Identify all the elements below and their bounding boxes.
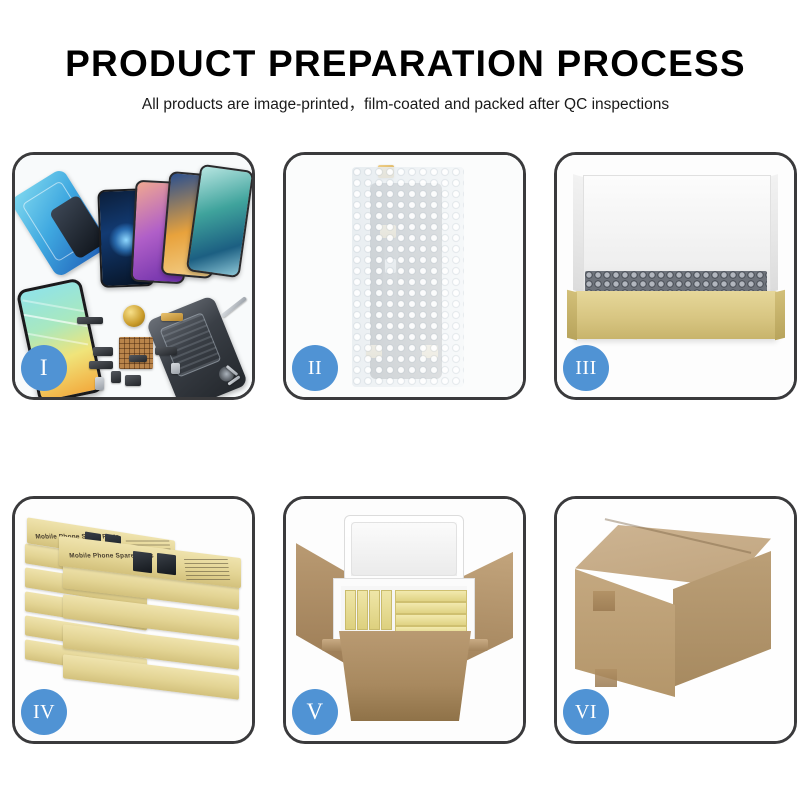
box-art-screen-b2 — [157, 553, 176, 575]
box-art-screen-b1 — [133, 551, 152, 573]
process-step-4[interactable]: Mobile Phone Spare Parts Mobile Phone Sp… — [12, 496, 255, 744]
yellow-box-v1 — [345, 590, 356, 630]
yellow-box-h1 — [395, 590, 467, 602]
yellow-box-v2 — [357, 590, 368, 630]
part-small-chip-icon — [171, 363, 180, 374]
carton-body-icon — [330, 631, 480, 721]
part-module-icon — [125, 375, 141, 386]
yellow-box-h3 — [395, 614, 467, 626]
part-camera-icon — [111, 371, 121, 383]
process-step-grid: I II III — [0, 152, 811, 744]
process-step-1[interactable]: I — [12, 152, 255, 400]
part-sim-tray-icon — [95, 377, 104, 390]
part-flex-4-icon — [129, 355, 147, 362]
carton-tape-upper-icon — [593, 591, 615, 611]
step-4-badge: IV — [21, 689, 67, 735]
process-step-6[interactable]: VI — [554, 496, 797, 744]
step-6-badge: VI — [563, 689, 609, 735]
part-speaker-icon — [77, 317, 103, 324]
part-flex-3-icon — [155, 347, 177, 355]
chip-grid-icon — [119, 337, 153, 369]
part-gold-flex-icon — [161, 313, 183, 321]
carton-tape-lower-icon — [595, 669, 617, 687]
part-flex-1-icon — [93, 347, 113, 356]
yellow-box-h2 — [395, 602, 467, 614]
foam-lid-icon — [344, 515, 464, 583]
bubble-texture — [352, 167, 464, 387]
step-5-badge: V — [292, 689, 338, 735]
yellow-box-v3 — [369, 590, 380, 630]
page-subtitle: All products are image-printed，film-coat… — [0, 95, 811, 115]
kraft-box-tray-icon — [575, 291, 777, 339]
part-flex-2-icon — [89, 361, 113, 369]
gold-coil-icon — [123, 305, 145, 327]
bubble-wrap-bag-icon — [352, 167, 464, 387]
step-1-badge: I — [21, 345, 67, 391]
box-art-text-lines-b — [184, 558, 230, 580]
process-step-2[interactable]: II — [283, 152, 526, 400]
step-2-badge: II — [292, 345, 338, 391]
page-title: PRODUCT PREPARATION PROCESS — [0, 42, 811, 86]
process-step-5[interactable]: V — [283, 496, 526, 744]
page-header: PRODUCT PREPARATION PROCESS All products… — [0, 0, 811, 115]
yellow-box-v4 — [381, 590, 392, 630]
process-step-3[interactable]: III — [554, 152, 797, 400]
step-3-badge: III — [563, 345, 609, 391]
